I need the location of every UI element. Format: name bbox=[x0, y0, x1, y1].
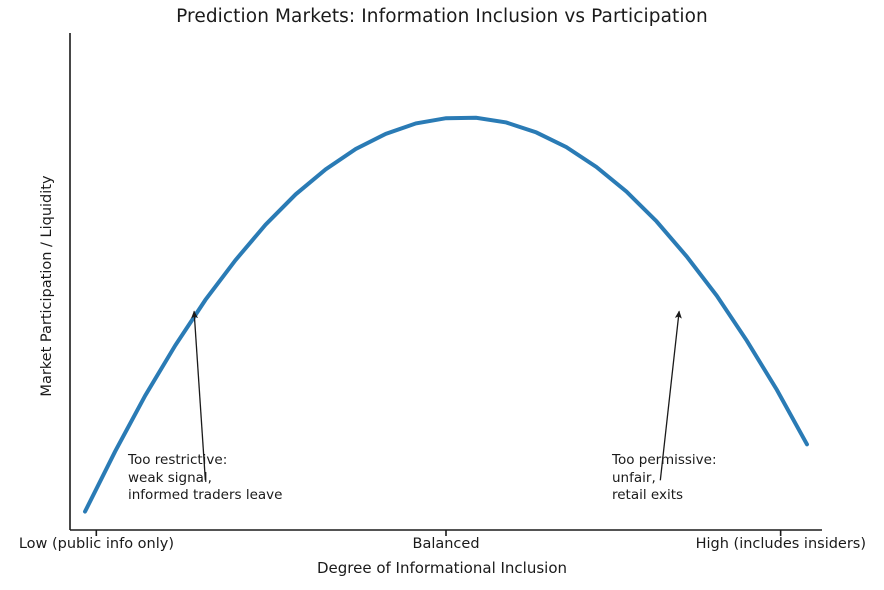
x-tick-label-low: Low (public info only) bbox=[19, 536, 174, 552]
x-axis-label: Degree of Informational Inclusion bbox=[0, 559, 884, 577]
annotation-too-restrictive: Too restrictive: weak signal, informed t… bbox=[128, 452, 282, 505]
chart-figure: Prediction Markets: Information Inclusio… bbox=[0, 0, 884, 590]
y-axis-label: Market Participation / Liquidity bbox=[39, 126, 55, 446]
x-tick-label-high: High (includes insiders) bbox=[696, 536, 866, 552]
x-tick-label-balanced: Balanced bbox=[413, 536, 480, 552]
annotation-too-permissive: Too permissive: unfair, retail exits bbox=[612, 452, 717, 505]
